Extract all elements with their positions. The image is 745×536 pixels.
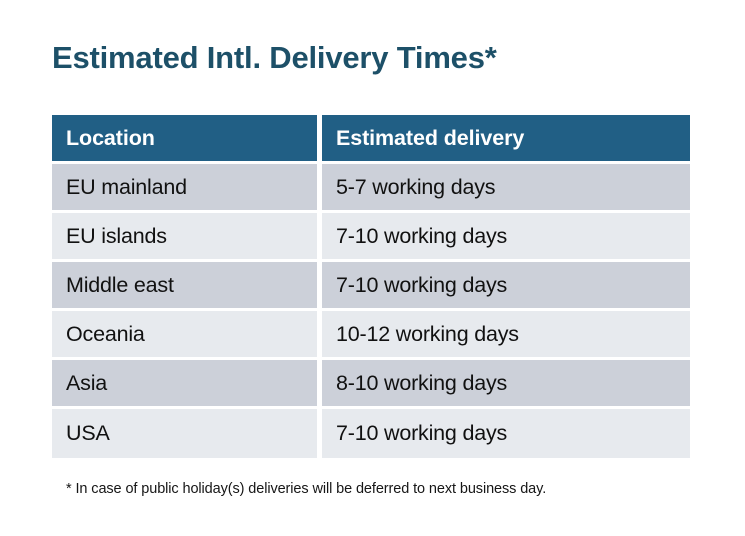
footnote-text: * In case of public holiday(s) deliverie…: [66, 481, 546, 497]
cell-location: Oceania: [52, 311, 322, 360]
cell-delivery: 7-10 working days: [322, 409, 690, 458]
table-row: USA 7-10 working days: [52, 409, 690, 458]
table-row: Oceania 10-12 working days: [52, 311, 690, 360]
cell-location: USA: [52, 409, 322, 458]
cell-delivery: 7-10 working days: [322, 262, 690, 311]
cell-delivery: 8-10 working days: [322, 360, 690, 409]
table-row: Middle east 7-10 working days: [52, 262, 690, 311]
table-row: EU mainland 5-7 working days: [52, 164, 690, 213]
table-header: Location Estimated delivery: [52, 115, 690, 164]
cell-location: Middle east: [52, 262, 322, 311]
table-row: EU islands 7-10 working days: [52, 213, 690, 262]
table-header-row: Location Estimated delivery: [52, 115, 690, 164]
estimated-delivery-times-table: Location Estimated delivery EU mainland …: [52, 115, 690, 458]
cell-delivery: 7-10 working days: [322, 213, 690, 262]
cell-delivery: 10-12 working days: [322, 311, 690, 360]
column-header-location: Location: [52, 115, 322, 164]
cell-location: Asia: [52, 360, 322, 409]
page-title: Estimated Intl. Delivery Times*: [52, 38, 497, 78]
cell-location: EU islands: [52, 213, 322, 262]
delivery-times-page: Estimated Intl. Delivery Times* Location…: [0, 0, 745, 536]
cell-location: EU mainland: [52, 164, 322, 213]
table-row: Asia 8-10 working days: [52, 360, 690, 409]
cell-delivery: 5-7 working days: [322, 164, 690, 213]
column-header-estimated-delivery: Estimated delivery: [322, 115, 690, 164]
table-body: EU mainland 5-7 working days EU islands …: [52, 164, 690, 458]
